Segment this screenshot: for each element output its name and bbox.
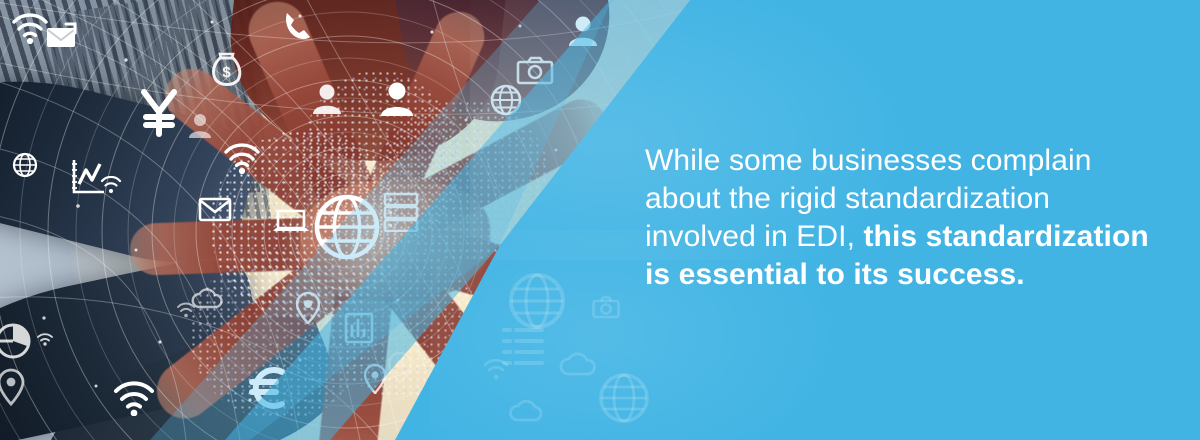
wifi-icon — [222, 142, 262, 174]
globe-grid-icon — [598, 372, 650, 424]
yen-icon — [136, 86, 182, 140]
quote-line-2-normal: about the rigid standardization — [645, 182, 1050, 215]
person-icon — [312, 82, 342, 114]
mail-icon — [198, 196, 232, 222]
svg-text:$: $ — [222, 64, 231, 81]
camera-icon — [592, 296, 620, 320]
person-icon — [380, 80, 414, 116]
pie-chart-icon — [0, 322, 32, 360]
wifi-icon — [112, 380, 156, 416]
phone-icon — [280, 10, 314, 44]
cloud-icon — [558, 352, 598, 378]
quote-line-4: is essential to its success. — [645, 256, 1175, 294]
quote-line-3: involved in EDI, this standardization — [645, 218, 1175, 256]
mail-arrow-icon — [44, 22, 78, 50]
quote-text: While some businesses complain about the… — [645, 142, 1175, 294]
wifi-small-icon — [36, 332, 54, 346]
quote-line-1-normal: While some businesses complain — [645, 144, 1092, 177]
dollar-bag-icon: $ — [208, 52, 244, 86]
cloud-icon — [508, 400, 546, 424]
wifi-small-icon — [100, 176, 122, 194]
pin-icon — [388, 352, 412, 384]
quote-line-4-bold: is essential to its success. — [645, 258, 1025, 291]
wifi-small-icon — [176, 302, 196, 318]
globe-wire-icon — [12, 152, 38, 178]
pin-icon — [0, 368, 26, 406]
person-icon — [188, 112, 212, 138]
quote-line-3-normal: involved in EDI, — [645, 220, 863, 253]
quote-line-3-bold: this standardization — [863, 220, 1148, 253]
quote-line-1: While some businesses complain — [645, 142, 1175, 180]
quote-line-2: about the rigid standardization — [645, 180, 1175, 218]
wifi-icon — [482, 358, 510, 380]
edi-standardization-banner: $ — [0, 0, 1200, 440]
laptop-icon — [272, 208, 310, 236]
